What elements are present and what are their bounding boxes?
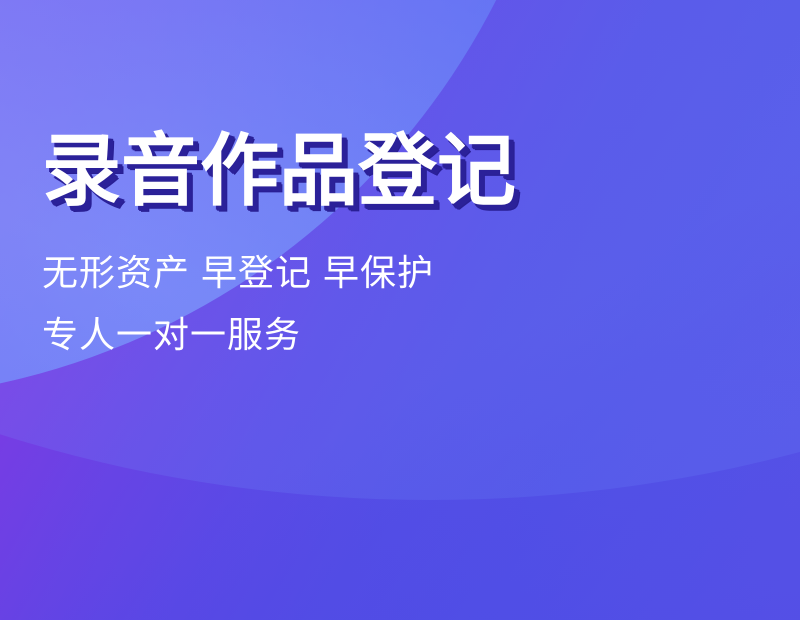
banner-subtitle-line-2: 专人一对一服务 [42,309,602,361]
promo-banner: 录音作品登记 无形资产 早登记 早保护 专人一对一服务 [0,0,800,620]
banner-content: 录音作品登记 无形资产 早登记 早保护 专人一对一服务 [42,128,602,361]
banner-subtitle-line-1: 无形资产 早登记 早保护 [42,247,602,299]
banner-headline: 录音作品登记 [42,128,602,214]
